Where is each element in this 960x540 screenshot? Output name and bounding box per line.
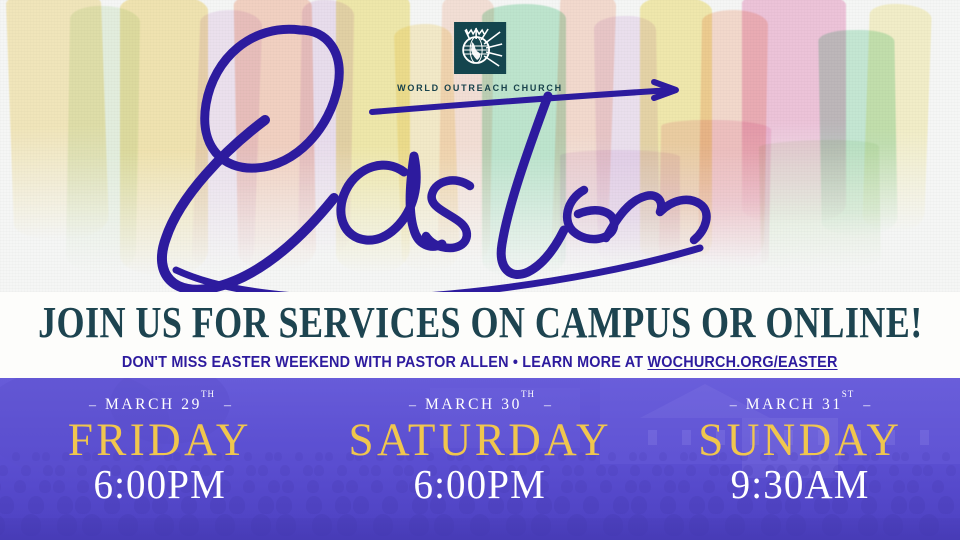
brand-wordmark: WORLD OUTREACH CHURCH [397,83,563,93]
date-ordinal-suffix: TH [201,389,215,399]
service-day-name: FRIDAY [68,416,252,465]
service-date: –MARCH 29TH– [89,395,231,414]
brand-logo-block: WORLD OUTREACH CHURCH [397,22,563,93]
watercolor-hero: WORLD OUTREACH CHURCH [0,0,960,292]
service-time: 6:00PM [414,463,546,506]
date-dash-left: – [409,398,416,414]
service-day-saturday: –MARCH 30TH–SATURDAY6:00PM [320,378,640,540]
service-day-friday: –MARCH 29TH–FRIDAY6:00PM [0,378,320,540]
easter-url-link[interactable]: WOCHURCH.ORG/EASTER [648,354,838,371]
easter-promo-poster: WORLD OUTREACH CHURCH JOIN US FOR SERVIC… [0,0,960,540]
service-day-name: SUNDAY [698,416,902,465]
service-day-sunday: –MARCH 31ST–SUNDAY9:30AM [640,378,960,540]
watercolor-stroke [659,119,772,271]
date-dash-left: – [89,398,96,414]
service-date: –MARCH 31ST– [730,395,871,414]
date-ordinal-suffix: TH [521,389,535,399]
service-date: –MARCH 30TH– [409,395,551,414]
date-dash-left: – [730,398,737,414]
headline-text: JOIN US FOR SERVICES ON CAMPUS OR ONLINE… [38,301,923,345]
watercolor-stroke [759,139,881,271]
service-time: 9:30AM [731,463,870,506]
date-dash-right: – [224,398,231,414]
date-dash-right: – [863,398,870,414]
date-dash-right: – [544,398,551,414]
date-label: MARCH 31ST [746,395,855,414]
date-label: MARCH 30TH [425,395,535,414]
globe-sunburst-icon [454,22,506,74]
date-label: MARCH 29TH [105,395,215,414]
service-day-name: SATURDAY [348,416,611,465]
subheadline-text: DON'T MISS EASTER WEEKEND WITH PASTOR AL… [122,354,838,372]
service-times-list: –MARCH 29TH–FRIDAY6:00PM–MARCH 30TH–SATU… [0,378,960,540]
date-ordinal-suffix: ST [842,389,855,399]
schedule-band: –MARCH 29TH–FRIDAY6:00PM–MARCH 30TH–SATU… [0,378,960,540]
service-time: 6:00PM [94,463,226,506]
announcement-band: JOIN US FOR SERVICES ON CAMPUS OR ONLINE… [0,292,960,378]
subheadline-prefix: DON'T MISS EASTER WEEKEND WITH PASTOR AL… [122,354,648,371]
